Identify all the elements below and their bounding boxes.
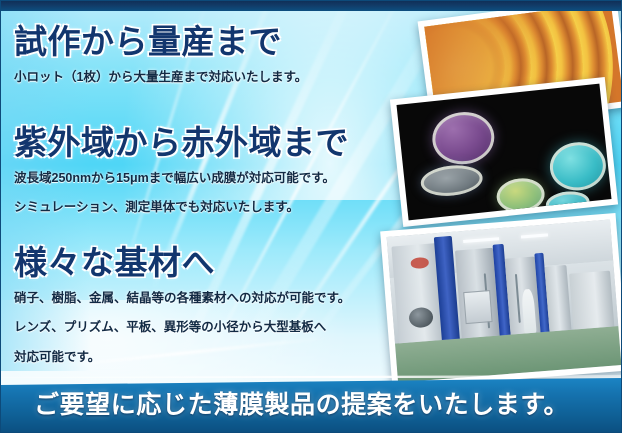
banner-hairline xyxy=(0,375,622,378)
photo-coating-plant-image xyxy=(387,219,622,382)
copy-block-prototype-to-mass-production: 試作から量産まで 小ロット（1枚）から大量生産まで対応いたします。 xyxy=(14,25,307,87)
subtext-substrates-line-3: 対応可能です。 xyxy=(14,347,350,367)
subtext-uv-to-ir-line-2: シミュレーション、測定単体でも対応いたします。 xyxy=(14,197,349,217)
lens-purple xyxy=(430,109,497,167)
subtext-uv-to-ir-line-1: 波長域250nmから15μmまで幅広い成膜が対応可能です。 xyxy=(14,168,349,188)
control-panel xyxy=(463,290,492,324)
subtext-prototype-line-1: 小ロット（1枚）から大量生産まで対応いたします。 xyxy=(14,67,307,87)
copy-block-various-substrates: 様々な基材へ 硝子、樹脂、金属、結晶等の各種素材への対応が可能です。 レンズ、プ… xyxy=(14,246,350,367)
copy-block-uv-to-ir: 紫外域から赤外域まで 波長域250nmから15μmまで幅広い成膜が対応可能です。… xyxy=(14,126,349,218)
headline-various-substrates: 様々な基材へ xyxy=(14,246,350,279)
lens-green xyxy=(495,176,546,215)
lens-teal xyxy=(548,140,609,194)
banner-tagline-text: ご要望に応じた薄膜製品の提案をいたします。 xyxy=(34,385,569,421)
subtext-substrates-line-1: 硝子、樹脂、金属、結晶等の各種素材への対応が可能です。 xyxy=(14,288,350,308)
headline-prototype-to-mass-production: 試作から量産まで xyxy=(14,25,307,58)
top-navy-bar xyxy=(0,0,622,11)
coating-machine xyxy=(569,271,614,329)
headline-uv-to-ir: 紫外域から赤外域まで xyxy=(14,126,349,159)
lens-grey xyxy=(419,162,484,198)
bottom-tagline-banner: ご要望に応じた薄膜製品の提案をいたします。 xyxy=(0,373,622,433)
lens-teal-small xyxy=(545,189,591,217)
subtext-substrates-line-2: レンズ、プリズム、平板、異形等の小径から大型基板へ xyxy=(14,317,350,337)
photo-coated-optics-image xyxy=(396,84,611,221)
photo-coating-plant xyxy=(380,213,622,389)
photo-coated-optics xyxy=(390,77,618,227)
thin-film-promo-banner: 試作から量産まで 小ロット（1枚）から大量生産まで対応いたします。 紫外域から赤… xyxy=(0,0,622,433)
